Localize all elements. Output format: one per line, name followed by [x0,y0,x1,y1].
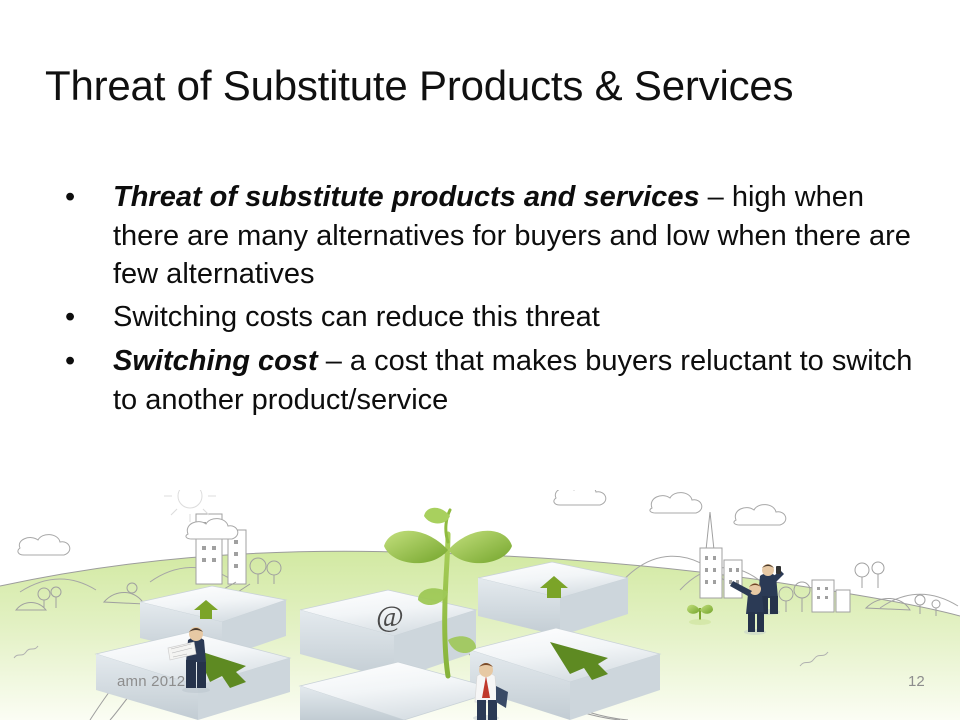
bullet-marker-icon: • [65,342,75,381]
bullet-marker-icon: • [65,298,75,337]
slide-number: 12 [908,673,925,690]
bullet-body-text: Switching costs can reduce this threat [113,301,600,333]
bullet-lead-text: Switching cost [113,345,318,377]
slide-title: Threat of Substitute Products & Services [45,62,925,110]
slide-canvas: Threat of Substitute Products & Services… [0,0,960,720]
list-item: •Threat of substitute products and servi… [60,178,920,294]
bullet-list: •Threat of substitute products and servi… [60,178,920,421]
bullet-lead-text: Threat of substitute products and servic… [113,181,700,213]
list-item: •Switching costs can reduce this threat [60,298,920,337]
bullet-marker-icon: • [65,178,75,217]
slide-footer-text: amn 2012 [117,673,185,690]
list-item: •Switching cost – a cost that makes buye… [60,342,920,419]
at-symbol-glyph: @ [376,600,404,633]
